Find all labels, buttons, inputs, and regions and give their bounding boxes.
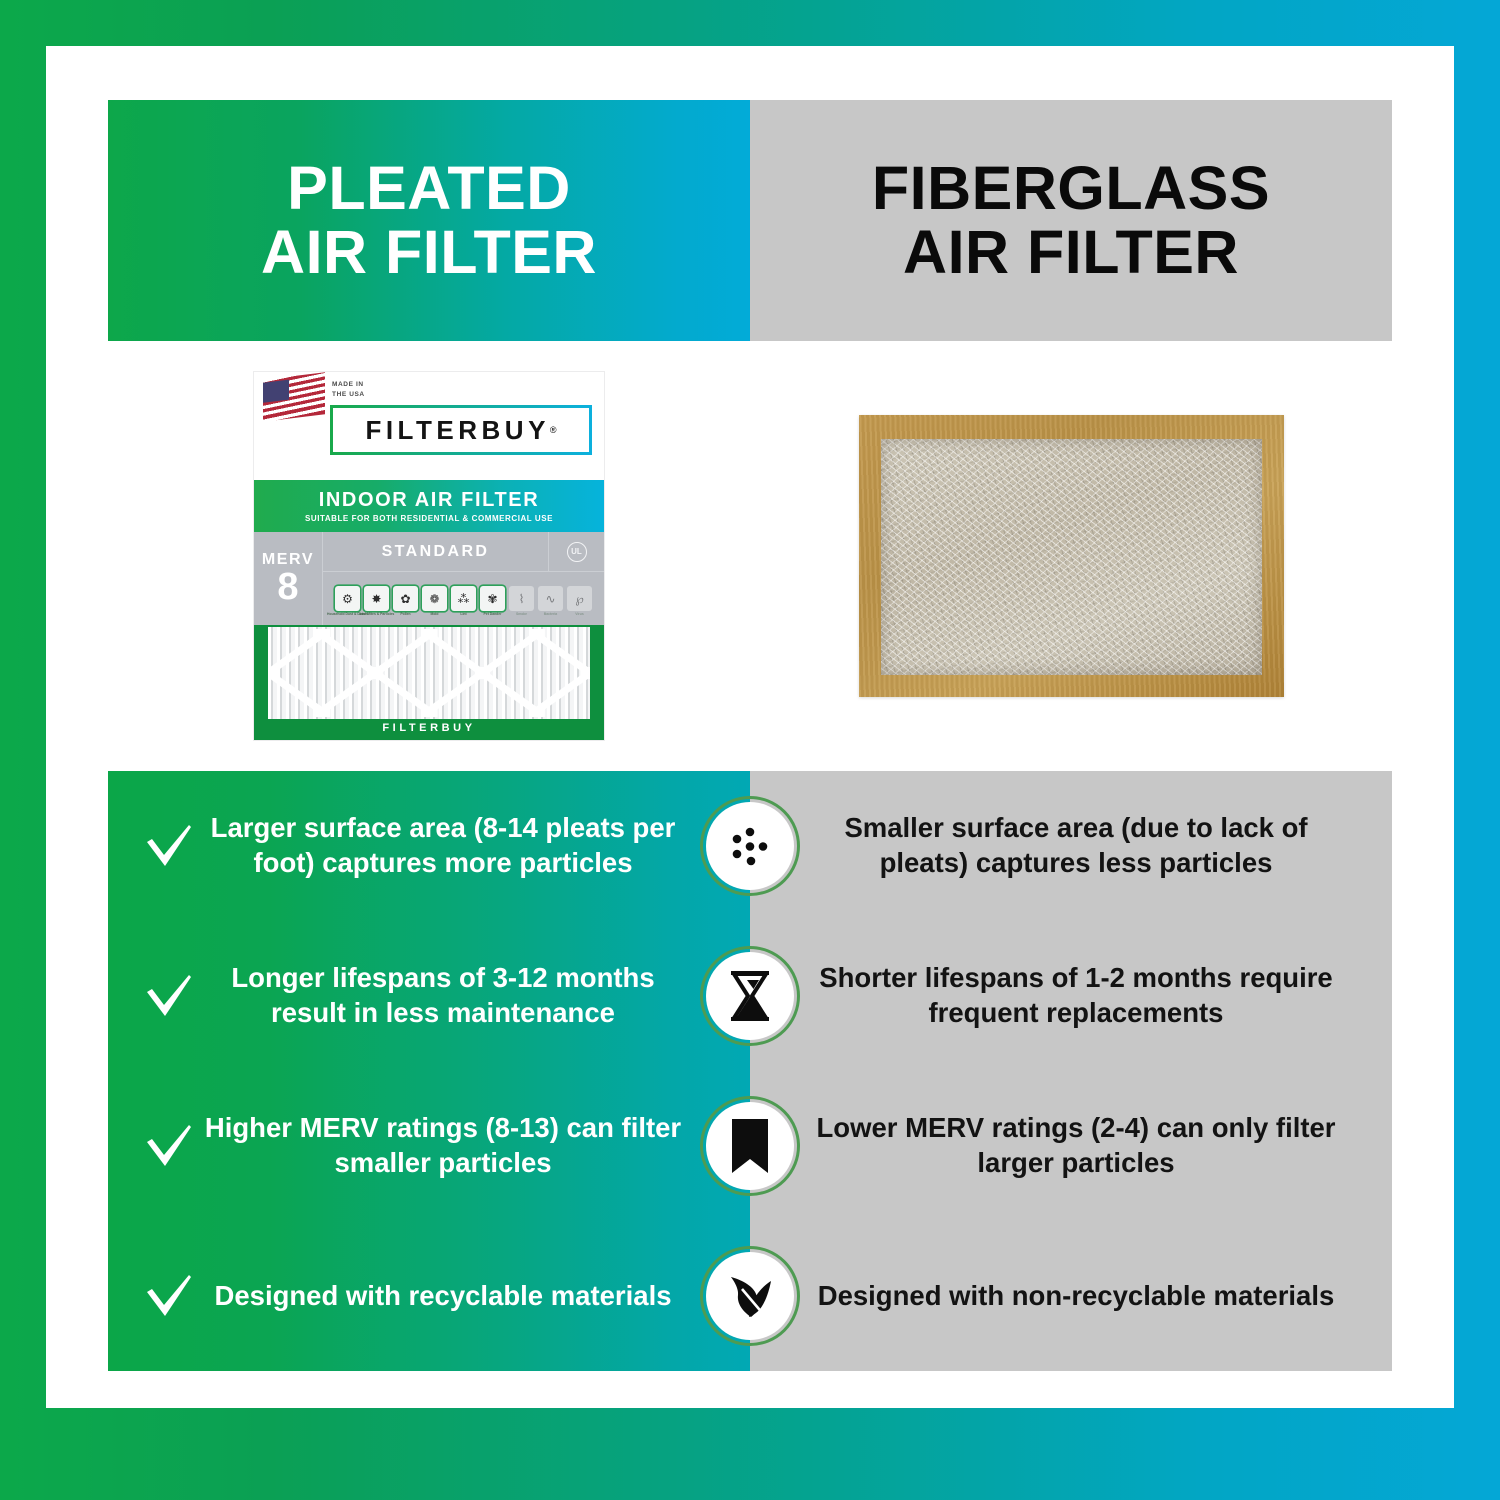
comparison-left-cell: Longer lifespans of 3-12 months result i… [108,921,750,1071]
fiberglass-media-texture [881,439,1262,675]
pleated-box-spec-band: MERV 8 STANDARD UL ⚙Househol [254,532,604,625]
trademark-symbol: ® [550,425,557,435]
banner-subtitle: SUITABLE FOR BOTH RESIDENTIAL & COMMERCI… [305,514,553,523]
ul-mark-icon: UL [567,542,587,562]
pleated-filter-image: MADE INTHE USA FILTERBUY® INDOOR AIR FIL… [254,372,604,740]
smoke-icon-glyph: ⌇ [519,592,525,606]
made-in-usa-label: MADE INTHE USA [332,380,365,400]
feature-badge [700,796,800,896]
header-fiberglass: FIBERGLASS AIR FILTER [750,100,1392,341]
bacteria-icon: ∿Bacteria [538,586,563,611]
infographic-content: PLEATED AIR FILTER FIBERGLASS AIR FILTER [108,100,1392,1352]
spec-right: STANDARD UL ⚙Household Dust & Debris✸Dus… [323,532,604,625]
header-fiberglass-line1: FIBERGLASS [872,154,1270,222]
banner-title: INDOOR AIR FILTER [319,489,540,512]
header-pleated-line2: AIR FILTER [261,218,597,286]
particles-icon [706,802,794,890]
bacteria-icon-label: Bacteria [544,612,557,616]
household-dust-icon: ⚙Household Dust & Debris [335,586,360,611]
fiberglass-product-cell [750,341,1392,771]
outer-gradient-frame: PLEATED AIR FILTER FIBERGLASS AIR FILTER [0,0,1500,1500]
checkmark-icon [136,1270,202,1322]
leaf-icon [706,1252,794,1340]
virus-icon-glyph: ℘ [575,592,583,606]
bacteria-icon-glyph: ∿ [545,592,555,606]
dust-mites-icon: ✸Dust Mites & Particles [364,586,389,611]
pollen-icon-glyph: ✿ [400,592,410,606]
comparison-left-cell: Higher MERV ratings (8-13) can filter sm… [108,1071,750,1221]
pet-dander-icon-glyph: ✾ [487,592,497,606]
pollen-icon: ✿Pollen [393,586,418,611]
checkmark-icon [136,1120,202,1172]
lint-icon-label: Lint [460,612,466,616]
mold-icon-label: Mold [431,612,439,616]
household-dust-icon-glyph: ⚙ [342,592,353,606]
mold-icon: ❁Mold [422,586,447,611]
comparison-section: Larger surface area (8-14 pleats per foo… [108,771,1392,1371]
virus-icon: ℘Virus [567,586,592,611]
comparison-right-cell: Lower MERV ratings (2-4) can only filter… [750,1071,1392,1221]
smoke-icon: ⌇Smoke [509,586,534,611]
checkmark-icon [136,970,202,1022]
header-pleated-line1: PLEATED [287,154,571,222]
comparison-row: Designed with recyclable materialsDesign… [108,1221,1392,1371]
pleated-box-banner: INDOOR AIR FILTER SUITABLE FOR BOTH RESI… [254,480,604,532]
smoke-icon-label: Smoke [516,612,527,616]
pleated-box-top: MADE INTHE USA FILTERBUY® [254,372,604,480]
product-image-band: MADE INTHE USA FILTERBUY® INDOOR AIR FIL… [108,341,1392,771]
comparison-rows: Larger surface area (8-14 pleats per foo… [108,771,1392,1371]
hourglass-icon [706,952,794,1040]
grade-label: STANDARD [323,543,548,561]
comparison-right-cell: Smaller surface area (due to lack of ple… [750,771,1392,921]
checkmark-icon [136,820,202,872]
comparison-left-cell: Larger surface area (8-14 pleats per foo… [108,771,750,921]
comparison-left-cell: Designed with recyclable materials [108,1221,750,1371]
feature-badge [700,946,800,1046]
pet-dander-icon-label: Pet Dander [484,612,502,616]
grade-row: STANDARD UL [323,532,604,572]
comparison-row: Larger surface area (8-14 pleats per foo… [108,771,1392,921]
filterbuy-logo: FILTERBUY® [330,405,592,455]
header-band: PLEATED AIR FILTER FIBERGLASS AIR FILTER [108,100,1392,341]
virus-icon-label: Virus [575,612,583,616]
feature-badge [700,1246,800,1346]
pleated-product-cell: MADE INTHE USA FILTERBUY® INDOOR AIR FIL… [108,341,750,771]
feature-badge [700,1096,800,1196]
bookmark-icon [706,1102,794,1190]
comparison-left-text: Higher MERV ratings (8-13) can filter sm… [202,1111,750,1180]
comparison-right-cell: Designed with non-recyclable materials [750,1221,1392,1371]
merv-value: 8 [277,569,298,605]
fiberglass-filter-image [859,415,1284,697]
white-sheet: PLEATED AIR FILTER FIBERGLASS AIR FILTER [46,46,1454,1408]
comparison-right-cell: Shorter lifespans of 1-2 months require … [750,921,1392,1071]
ul-certification: UL [548,532,604,571]
usa-flag-icon [263,372,325,422]
filter-brand-footer: FILTERBUY [254,722,604,734]
comparison-left-text: Larger surface area (8-14 pleats per foo… [202,811,750,880]
support-wire-overlay [268,627,590,719]
comparison-right-text: Shorter lifespans of 1-2 months require … [750,961,1392,1030]
pollen-icon-label: Pollen [400,612,410,616]
filterbuy-logo-text: FILTERBUY [365,415,549,446]
comparison-row: Longer lifespans of 3-12 months result i… [108,921,1392,1071]
header-fiberglass-line2: AIR FILTER [903,218,1239,286]
comparison-left-text: Designed with recyclable materials [202,1279,750,1314]
mold-icon-glyph: ❁ [429,592,439,606]
merv-block: MERV 8 [254,532,323,625]
pet-dander-icon: ✾Pet Dander [480,586,505,611]
header-pleated: PLEATED AIR FILTER [108,100,750,341]
comparison-right-text: Smaller surface area (due to lack of ple… [750,811,1392,880]
pleated-media-area: FILTERBUY [254,625,604,740]
comparison-right-text: Designed with non-recyclable materials [750,1279,1392,1314]
comparison-right-text: Lower MERV ratings (2-4) can only filter… [750,1111,1392,1180]
dust-mites-icon-label: Dust Mites & Particles [359,612,395,616]
lint-icon-glyph: ⁂ [458,592,470,606]
capability-icon-row: ⚙Household Dust & Debris✸Dust Mites & Pa… [323,572,604,625]
comparison-left-text: Longer lifespans of 3-12 months result i… [202,961,750,1030]
dust-mites-icon-glyph: ✸ [371,592,381,606]
comparison-row: Higher MERV ratings (8-13) can filter sm… [108,1071,1392,1221]
lint-icon: ⁂Lint [451,586,476,611]
